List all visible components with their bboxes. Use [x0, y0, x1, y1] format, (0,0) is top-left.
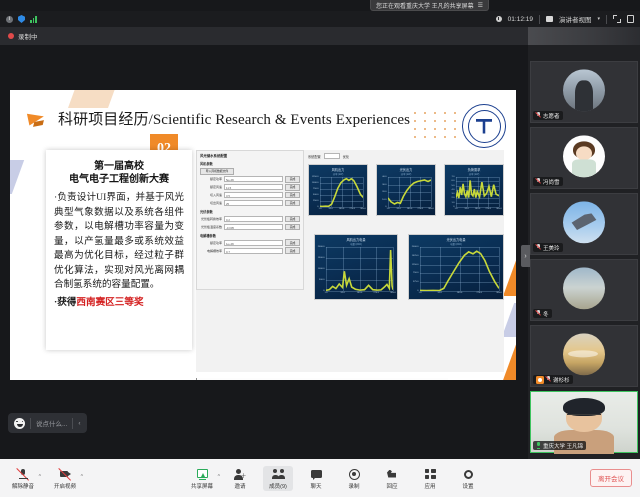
chart-plot-area	[326, 247, 393, 291]
form-row: 额定功率 1e+06 完成	[197, 239, 303, 247]
participants-label: 成员(9)	[269, 482, 287, 490]
slide-heading-line1: 第一届高校	[54, 160, 184, 173]
chart-y-axis: 01.02.03.04.05.06.07.0	[445, 177, 455, 207]
form-row: 额定功率 5e+06 完成	[197, 176, 303, 184]
participant-name: 志愿者	[543, 112, 560, 120]
window-icon[interactable]	[627, 15, 634, 23]
share-screen-label: 共享屏幕	[191, 482, 213, 490]
settings-button[interactable]: 设置	[453, 466, 483, 491]
participants-button[interactable]: 成员(9)	[263, 466, 293, 491]
recording-bar: 录制中	[0, 27, 528, 45]
host-icon	[536, 376, 544, 384]
field-input[interactable]: 0.2	[224, 216, 283, 222]
chart-subtitle: 电量 (kWh)	[409, 242, 503, 246]
reaction-input-bar[interactable]: 说点什么... ‹	[8, 413, 87, 433]
chart-title: 负荷需求	[445, 165, 503, 172]
form-section-label: 电解槽参数	[197, 231, 303, 239]
toolbar-center-group: 共享屏幕 ^ ＋ 邀请 成员(9) 聊天 录制	[187, 466, 483, 491]
slide-body-text: ·负责设计UI界面，并基于风光典型气象数据以及系统各组件参数，以电解槽功率容量为…	[54, 191, 184, 293]
view-layout-icon[interactable]	[546, 16, 553, 22]
unmute-label: 解除静音	[12, 482, 34, 490]
start-video-label: 开启视频	[54, 482, 76, 490]
field-confirm-button[interactable]: 完成	[285, 239, 300, 246]
view-mode-label[interactable]: 演讲者视图	[559, 14, 592, 24]
mic-muted-icon	[536, 244, 541, 251]
clock-icon	[496, 16, 502, 22]
chart-subtitle: 电量 (kWh)	[315, 242, 397, 246]
chart-title: 光伏出力	[377, 165, 435, 172]
participant-tile[interactable]: 冯尚雪	[530, 127, 638, 189]
form-row: 光伏板温度系数 -0.005 完成	[197, 223, 303, 231]
slide-heading-line2: 电气电子工程创新大赛	[54, 173, 184, 186]
config-label: 系统配置	[308, 154, 321, 159]
field-input[interactable]: 25	[224, 200, 283, 206]
chart-plot-area	[320, 177, 363, 207]
field-label: 额定风速	[200, 185, 222, 189]
divider	[72, 418, 73, 429]
form-title: 风光储水系统配置	[197, 151, 303, 159]
field-label: 切出风速	[200, 201, 222, 205]
field-confirm-button[interactable]: 完成	[285, 176, 300, 183]
import-data-button[interactable]: 导入风机数据文件	[200, 168, 234, 175]
list-icon[interactable]: ☰	[478, 2, 483, 9]
form-row: 切出风速 25 完成	[197, 199, 303, 207]
chart-x-axis: 1.092.0183.0274.0365.0	[326, 292, 393, 298]
top-status-left: i	[6, 15, 37, 23]
participant-tile[interactable]: 王美玲	[530, 193, 638, 255]
config-input[interactable]	[324, 153, 340, 159]
chart-title: 风机出力电量	[315, 235, 397, 242]
participant-name: 冯尚雪	[543, 178, 560, 186]
slide-title: 科研项目经历/Scientific Research & Events Expe…	[58, 108, 410, 129]
comment-input[interactable]: 说点什么...	[36, 418, 67, 428]
form-row: 电解槽效率 0.7 完成	[197, 247, 303, 255]
field-label: 额定功率	[200, 241, 222, 245]
invite-person-icon: ＋	[234, 468, 247, 481]
participant-name-badge: 重庆大学 王凡锦	[533, 441, 586, 450]
apps-label: 应用	[425, 482, 436, 490]
record-icon	[348, 468, 361, 481]
paper-plane-icon	[28, 110, 50, 128]
share-screen-banner: 您正在观看重庆大学 王凡的共享屏幕 ☰	[370, 0, 489, 11]
chart-plot-area	[388, 177, 431, 207]
start-video-button[interactable]: 开启视频 ^	[50, 466, 80, 491]
field-input[interactable]: -0.005	[224, 224, 283, 230]
mic-muted-icon	[536, 112, 541, 119]
avatar	[563, 69, 605, 111]
participant-name: 重庆大学 王凡锦	[543, 442, 583, 450]
avatar	[563, 333, 605, 375]
decor-parallelogram	[10, 160, 24, 194]
chart-load-demand: 负荷需求 功率 (kW) 01.02.03.04.05.06.07.0 1.09…	[444, 164, 504, 216]
avatar	[563, 135, 605, 177]
toolbar-right-group: 离开会议	[590, 469, 632, 487]
field-label: 光伏板温度系数	[200, 225, 222, 229]
share-banner-text: 您正在观看重庆大学 王凡的共享屏幕	[376, 1, 474, 10]
field-label: 光伏板转换效率	[200, 217, 222, 221]
chat-bubble-icon	[310, 468, 323, 481]
smiley-icon[interactable]	[14, 418, 25, 429]
chart-x-axis: 1.092.0183.0274.0365.0	[420, 292, 499, 298]
console-output: the best position for the objFunction is…	[196, 378, 448, 380]
parameter-form-panel: 风光储水系统配置 风机参数 导入风机数据文件 额定功率 5e+06 完成 额定风…	[196, 150, 304, 290]
record-label: 录制	[349, 482, 360, 490]
camera-off-icon	[59, 468, 72, 481]
meeting-toolbar: 解除静音 ^ 开启视频 ^ 共享屏幕 ^ ＋ 邀请	[0, 459, 640, 497]
chart-wind-energy: 风机出力电量 电量 (kWh) 0500.01000.01500.02000.0…	[314, 234, 398, 300]
slide-text-card: 第一届高校 电气电子工程创新大赛 ·负责设计UI界面，并基于风光典型气象数据以及…	[46, 150, 192, 350]
participant-tile[interactable]: 谢杉杉	[530, 325, 638, 387]
participant-name-badge: 冬	[533, 309, 552, 318]
participant-name: 王美玲	[543, 244, 560, 252]
mic-muted-icon	[536, 178, 541, 185]
participant-tile[interactable]: 冬	[530, 259, 638, 321]
signal-bars-icon[interactable]	[30, 15, 37, 23]
chart-x-axis: 1.092.0183.0274.0365.0	[320, 208, 363, 214]
mic-muted-icon	[546, 376, 551, 383]
field-input[interactable]: 3.5	[224, 192, 283, 198]
participants-icon	[272, 468, 285, 481]
field-confirm-button[interactable]: 完成	[285, 200, 300, 207]
field-input[interactable]: 11.5	[224, 184, 283, 190]
award-highlight: 西南赛区三等奖	[76, 297, 143, 308]
field-input[interactable]: 0.7	[224, 248, 283, 254]
field-confirm-button[interactable]: 完成	[285, 224, 300, 231]
decor-parallelogram	[503, 342, 516, 380]
leave-meeting-button[interactable]: 离开会议	[590, 469, 632, 487]
field-label: 额定功率	[200, 177, 222, 181]
chat-button[interactable]: 聊天	[301, 466, 331, 491]
shield-icon[interactable]	[18, 15, 25, 23]
slide-award-line: ·获得西南赛区三等奖	[54, 296, 184, 310]
participant-strip: 志愿者 冯尚雪 王美玲	[528, 45, 640, 459]
participant-name-badge: 谢杉杉	[533, 375, 573, 384]
settings-label: 设置	[463, 482, 474, 490]
config-row: 系统配置 优化	[308, 153, 349, 159]
form-section-label: 风机参数	[197, 159, 303, 167]
config-value: 优化	[343, 154, 349, 159]
participant-name-badge: 冯尚雪	[533, 177, 563, 186]
chart-title: 光伏出力电量	[409, 235, 503, 242]
chart-plot-area	[456, 177, 499, 207]
participant-tile[interactable]: 志愿者	[530, 61, 638, 123]
chevron-up-icon[interactable]: ^	[81, 474, 83, 480]
participant-name-badge: 王美玲	[533, 243, 563, 252]
chevron-down-icon[interactable]: ▾	[597, 16, 600, 22]
meeting-timer: 01:12:19	[508, 16, 533, 23]
form-section-label: 光伏参数	[197, 207, 303, 215]
chevron-up-icon[interactable]: ^	[39, 474, 41, 480]
award-prefix: ·获得	[54, 297, 76, 308]
field-confirm-button[interactable]: 完成	[285, 184, 300, 191]
avatar	[563, 267, 605, 309]
chat-label: 聊天	[311, 482, 322, 490]
avatar	[563, 201, 605, 243]
slide-title-row: 科研项目经历/Scientific Research & Events Expe…	[28, 108, 410, 129]
chart-x-axis: 1.092.0183.0274.0365.0	[388, 208, 431, 214]
record-button[interactable]: 录制	[339, 466, 369, 491]
recording-label: 录制中	[18, 31, 38, 41]
collapse-chevron-icon[interactable]: ‹	[78, 420, 80, 427]
meeting-window: 您正在观看重庆大学 王凡的共享屏幕 ☰ i 01:12:19 演讲者视图 ▾ 录…	[0, 0, 640, 497]
chart-y-axis: 0250.0500.0750.01000.01250.0	[309, 177, 319, 207]
chart-y-axis: 010.020.030.040.0	[377, 177, 387, 207]
mic-muted-icon	[536, 310, 541, 317]
chevron-up-icon[interactable]: ^	[218, 474, 220, 480]
field-input[interactable]: 1e+06	[224, 240, 283, 246]
form-row: 额定风速 11.5 完成	[197, 183, 303, 191]
participant-name-badge: 志愿者	[533, 111, 563, 120]
presentation-slide: 科研项目经历/Scientific Research & Events Expe…	[10, 90, 516, 380]
record-dot-icon	[8, 33, 14, 39]
divider	[606, 15, 607, 24]
participant-name: 冬	[543, 310, 549, 318]
chart-y-axis: 0375.0750.01250.01625.02000.0	[409, 247, 419, 291]
chart-plot-area	[420, 247, 499, 291]
shared-screen-stage[interactable]: 科研项目经历/Scientific Research & Events Expe…	[0, 45, 528, 403]
chart-pv-power: 光伏出力 功率 (kW) 010.020.030.040.0 1.092.018…	[376, 164, 436, 216]
field-label: 切入风速	[200, 193, 222, 197]
recording-bar-right-gradient	[528, 27, 640, 45]
invite-button[interactable]: ＋ 邀请	[225, 466, 255, 491]
share-screen-icon	[196, 468, 209, 481]
field-label: 电解槽效率	[200, 249, 222, 253]
form-row: 切入风速 3.5 完成	[197, 191, 303, 199]
participant-name: 谢杉杉	[553, 376, 570, 384]
chart-x-axis: 1.092.0183.0274.0365.0	[456, 208, 499, 214]
apps-grid-icon	[424, 468, 437, 481]
participant-tile-active-speaker[interactable]: 重庆大学 王凡锦	[530, 391, 638, 453]
toolbar-left-group: 解除静音 ^ 开启视频 ^	[8, 466, 80, 491]
invite-label: 邀请	[235, 482, 246, 490]
unmute-button[interactable]: 解除静音 ^	[8, 466, 38, 491]
application-screenshot: 风光储水系统配置 风机参数 导入风机数据文件 额定功率 5e+06 完成 额定风…	[196, 150, 504, 372]
mic-on-icon	[536, 442, 541, 449]
field-confirm-button[interactable]: 完成	[285, 247, 300, 254]
apps-button[interactable]: 应用	[415, 466, 445, 491]
info-icon[interactable]: i	[6, 16, 13, 23]
dot-grid-decoration	[414, 112, 458, 146]
form-row: 光伏板转换效率 0.2 完成	[197, 215, 303, 223]
chongqing-university-logo	[462, 104, 506, 148]
chart-wind-power: 风机出力 功率 (kW) 0250.0500.0750.01000.01250.…	[308, 164, 368, 216]
share-screen-button[interactable]: 共享屏幕 ^	[187, 466, 217, 491]
field-confirm-button[interactable]: 完成	[285, 192, 300, 199]
mic-muted-icon	[17, 468, 30, 481]
decor-parallelogram	[503, 258, 516, 296]
reactions-label: 回应	[387, 482, 398, 490]
logo-inner-ring	[468, 110, 501, 143]
field-input[interactable]: 5e+06	[224, 176, 283, 182]
reactions-button[interactable]: 回应	[377, 466, 407, 491]
logo-mark	[476, 119, 492, 134]
collapse-panel-button[interactable]: ›	[521, 245, 530, 267]
decor-parallelogram	[68, 90, 116, 108]
divider	[30, 418, 31, 429]
top-status-bar: i 01:12:19 演讲者视图 ▾	[0, 11, 640, 27]
chart-title: 风机出力	[309, 165, 367, 172]
fullscreen-icon[interactable]	[613, 15, 621, 23]
field-confirm-button[interactable]: 完成	[285, 216, 300, 223]
chart-y-axis: 0500.01000.01500.02000.0	[315, 247, 325, 291]
divider	[539, 15, 540, 24]
top-status-right: 01:12:19 演讲者视图 ▾	[496, 14, 634, 24]
gear-icon	[462, 468, 475, 481]
chart-pv-energy: 光伏出力电量 电量 (kWh) 0375.0750.01250.01625.02…	[408, 234, 504, 300]
reactions-icon	[386, 468, 399, 481]
